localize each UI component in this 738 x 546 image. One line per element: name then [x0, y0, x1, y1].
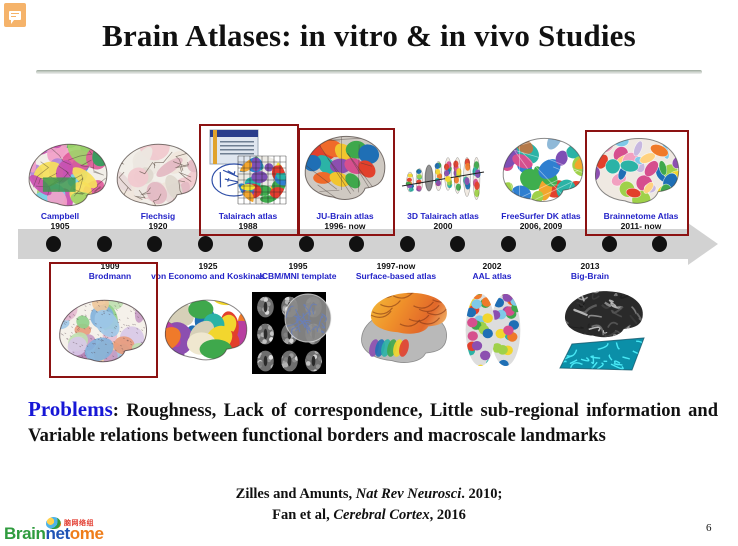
atlas-year: 2002 [458, 261, 527, 271]
timeline-label-upper-1: Flechsig1920 [127, 211, 188, 231]
timeline-label-upper-6: Brainnetome Atlas2011- now [586, 211, 696, 231]
atlas-name: AAL atlas [458, 271, 527, 281]
atlas-name: Flechsig [127, 211, 188, 221]
citation-1-journal: Nat Rev Neurosci [356, 486, 462, 502]
atlas-year: 2011- now [586, 221, 696, 231]
citation-line-1: Zilles and Amunts, Nat Rev Neurosci. 201… [0, 484, 738, 505]
brand-part-1: Brain [4, 524, 45, 543]
citation-2-journal: Cerebral Cortex [333, 507, 429, 523]
timeline-label-lower-4: 2002AAL atlas [458, 261, 527, 281]
problems-body: : Roughness, Lack of correspondence, Lit… [28, 401, 718, 446]
von-economo-brain [160, 296, 250, 366]
timeline-label-lower-5: 2013Big-Brain [556, 261, 625, 281]
timeline-label-upper-2: Talairach atlas1988 [199, 211, 298, 231]
citation-2-authors: Fan et al, [272, 507, 333, 523]
atlas-year: 1996- now [298, 221, 392, 231]
problems-keyword: Problems [28, 397, 113, 421]
citation-1-authors: Zilles and Amunts, [236, 486, 356, 502]
timeline-dot [400, 236, 415, 252]
brand-part-2: net [45, 524, 69, 543]
timeline-dot [299, 236, 314, 252]
atlas-name: JU-Brain atlas [298, 211, 392, 221]
atlas-name: Campbell [29, 211, 90, 221]
timeline-label-upper-0: Campbell1905 [29, 211, 90, 231]
brainnetome-logo: 脑网络组 Brainnetome [2, 518, 120, 544]
atlas-year: 2013 [556, 261, 625, 271]
talairach-3d-slices [396, 134, 488, 212]
timeline-label-lower-0: 1909Brodmann [78, 261, 141, 281]
brainnetome-brain [590, 134, 682, 210]
atlas-year: 1997-now [335, 261, 458, 271]
atlas-name: Brodmann [78, 271, 141, 281]
surface-based-brain [350, 290, 454, 372]
campbell-brain [24, 140, 110, 212]
icbm-mni-slices [252, 292, 348, 378]
timeline-dot [198, 236, 213, 252]
timeline-label-lower-3: 1997-nowSurface-based atlas [335, 261, 458, 281]
aal-brain [456, 290, 530, 370]
timeline-dot [551, 236, 566, 252]
atlas-name: Big-Brain [556, 271, 625, 281]
timeline-dot [97, 236, 112, 252]
atlas-year: 2006, 2009 [481, 221, 602, 231]
title-divider [36, 70, 702, 74]
atlas-year: 1905 [29, 221, 90, 231]
timeline-dot [46, 236, 61, 252]
atlas-name: Brainnetome Atlas [586, 211, 696, 221]
timeline-dot [248, 236, 263, 252]
timeline-dot [501, 236, 516, 252]
timeline-label-upper-5: FreeSurfer DK atlas2006, 2009 [481, 211, 602, 231]
citation-2-year: , 2016 [430, 507, 466, 523]
page-title: Brain Atlases: in vitro & in vivo Studie… [0, 18, 738, 54]
atlas-year: 1920 [127, 221, 188, 231]
timeline-label-upper-3: JU-Brain atlas1996- now [298, 211, 392, 231]
ju-brain [300, 132, 388, 206]
timeline-dot [349, 236, 364, 252]
page-number: 6 [706, 522, 712, 534]
timeline-dot [450, 236, 465, 252]
timeline-dot [652, 236, 667, 252]
atlas-name: FreeSurfer DK atlas [481, 211, 602, 221]
atlas-name: Surface-based atlas [335, 271, 458, 281]
citation-1-year: . 2010; [461, 486, 502, 502]
timeline-dot [147, 236, 162, 252]
freesurfer-dk-brain [498, 134, 586, 208]
atlas-name: Talairach atlas [199, 211, 298, 221]
atlas-year: 1909 [78, 261, 141, 271]
talairach-book-grid [204, 128, 290, 208]
brodmann-brain [54, 296, 150, 368]
timeline-arrow [18, 229, 718, 259]
big-brain [548, 288, 652, 374]
brand-part-3: ome [70, 524, 104, 543]
flechsig-brain [112, 140, 200, 212]
atlas-year: 1988 [199, 221, 298, 231]
problems-paragraph: Problems: Roughness, Lack of corresponde… [28, 396, 718, 448]
timeline-dot [602, 236, 617, 252]
